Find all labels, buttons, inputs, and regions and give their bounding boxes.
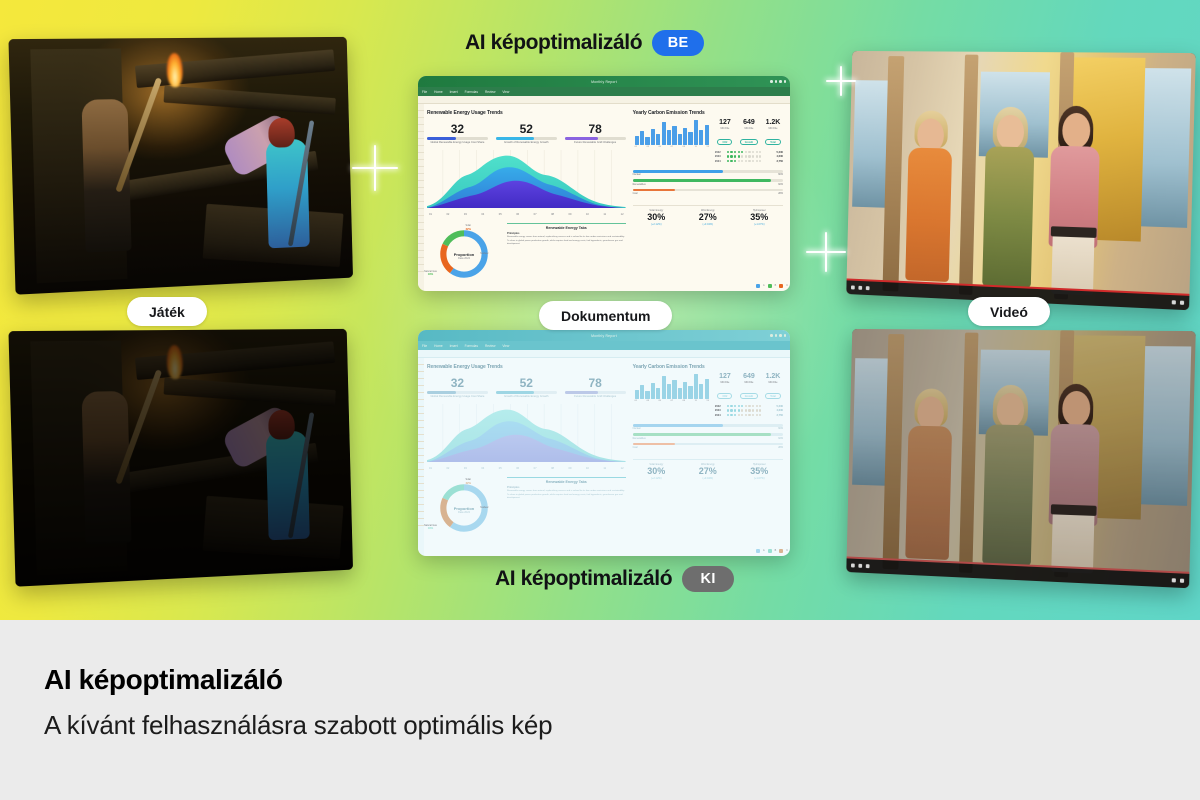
menu-item-review[interactable]: Review <box>485 90 495 94</box>
window-controls[interactable] <box>770 334 786 337</box>
game-artwork <box>8 37 353 295</box>
stat-card: 1.2K MtCO2e Total <box>763 373 783 402</box>
game-preview-ai-on <box>8 37 353 295</box>
percentage-value: 35% <box>736 212 783 222</box>
hero-banner: Monthly Report File Home Insert Formulas… <box>0 0 1200 620</box>
stat-card: 127 MtCO2e CO2 <box>715 119 735 148</box>
stat-number: 127 <box>715 119 735 126</box>
bar-chart <box>633 119 711 145</box>
xtick: 03 <box>464 213 467 216</box>
document-body: Renewable Energy Usage Trends 32 Global … <box>418 358 790 556</box>
document-right-column: Yearly Carbon Emission Trends 01 03 05 <box>633 110 783 287</box>
video-frame-dim <box>846 329 1196 588</box>
stat-chip: Growth <box>740 139 758 145</box>
year-row: 2023 4,630 <box>715 409 783 412</box>
stat-number: 649 <box>739 119 759 126</box>
progress-list: Nuclear60% Renewables92% Coal28% <box>633 170 783 198</box>
ai-label-on-text: AI képoptimalizáló <box>465 31 642 55</box>
footer-caption: AI képoptimalizáló A kívánt felhasználás… <box>0 620 1200 800</box>
bar-chart-xaxis: 01 03 05 07 09 11 13 <box>633 399 711 402</box>
document-ribbon[interactable] <box>418 350 790 358</box>
progress-row: Renewables92% <box>633 179 783 185</box>
donut-label-nuclear: Nuclear 60% <box>480 253 488 259</box>
document-preview-ai-off: Monthly Report File Home Insert Formulas… <box>418 330 790 556</box>
xtick: 01 <box>429 213 432 216</box>
xtick: 02 <box>446 213 449 216</box>
stat-card: 649 MtCO2e Growth <box>739 373 759 402</box>
progress-row: Coal28% <box>633 189 783 195</box>
stat-card: 127 MtCO2e CO2 <box>715 373 735 402</box>
percentage-card: Hydropower 35% (+1.07%) <box>736 209 783 225</box>
video-frame <box>846 51 1196 310</box>
percentage-card: Wind Energy 27% (+3.04%) <box>684 463 731 479</box>
stat-number: 1.2K <box>763 119 783 126</box>
video-preview-ai-on <box>846 51 1196 310</box>
percentage-row: Solar Energy 30% (+2.12%) Wind Energy 27… <box>633 459 783 479</box>
menu-item-insert[interactable]: Insert <box>450 344 458 348</box>
dim-overlay <box>846 329 1196 588</box>
video-preview-ai-off <box>846 329 1196 588</box>
year-row: 2024 3,750 <box>715 160 783 163</box>
year-rows: 2022 5,230 2023 4,630 2024 <box>715 151 783 163</box>
ai-label-off: AI képoptimalizáló KI <box>495 566 734 592</box>
menu-item-view[interactable]: View <box>502 344 509 348</box>
progress-row: Coal28% <box>633 443 783 449</box>
right-section-title: Yearly Carbon Emission Trends <box>633 110 783 116</box>
kpi-value: 52 <box>496 377 557 390</box>
row-gutter <box>418 104 424 291</box>
percentage-card: Wind Energy 27% (+3.04%) <box>684 209 731 225</box>
xtick: 10 <box>586 213 589 216</box>
category-pill-document: Dokumentum <box>539 301 672 330</box>
area-chart-xaxis: 01 02 03 04 05 06 07 08 09 10 11 12 <box>427 212 626 216</box>
percentage-value: 27% <box>684 212 731 222</box>
tabs-card: Renewable Energy Tabs Principles Renewab… <box>507 223 626 285</box>
year-row: 2022 5,230 <box>715 405 783 408</box>
left-section-title: Renewable Energy Usage Trends <box>427 364 626 370</box>
kpi-card: 52 Growth of Renewable Energy Growth <box>496 123 557 144</box>
fullscreen-icon[interactable] <box>1180 579 1184 583</box>
xtick: 07 <box>534 213 537 216</box>
ai-label-on: AI képoptimalizáló BE <box>465 30 704 56</box>
percentage-card: Hydropower 35% (+1.07%) <box>736 463 783 479</box>
tabs-card-title: Renewable Energy Tabs <box>507 480 626 484</box>
xtick: 09 <box>569 213 572 216</box>
menu-item-formulas[interactable]: Formulas <box>465 90 478 94</box>
menu-item-file[interactable]: File <box>422 90 427 94</box>
footer-title: AI képoptimalizáló <box>44 664 1156 696</box>
document-body: Renewable Energy Usage Trends 32 Global … <box>418 104 790 291</box>
bar-chart-xaxis: 01 03 05 07 09 11 13 <box>633 145 711 148</box>
donut-legend: A B C <box>756 284 788 288</box>
donut-label-solar: Solar 22% <box>465 225 471 231</box>
stat-label: MtCO2e <box>715 127 735 130</box>
menu-item-review[interactable]: Review <box>485 344 495 348</box>
percentage-delta: (+3.04%) <box>684 223 731 226</box>
stat-chip: Total <box>765 139 781 145</box>
kpi-card: 78 Future Renewable Grid Challenges <box>565 123 626 144</box>
kpi-value: 32 <box>427 123 488 136</box>
kpi-value: 78 <box>565 377 626 390</box>
kpi-value: 78 <box>565 123 626 136</box>
donut-legend: A B C <box>756 549 788 553</box>
dim-overlay <box>8 329 353 587</box>
kpi-card: 78 Future Renewable Grid Challenges <box>565 377 626 398</box>
kpi-caption: Global Renewable Energy Usage Cost Share <box>427 141 488 144</box>
right-section-title: Yearly Carbon Emission Trends <box>633 364 783 370</box>
year-rows: 2022 5,230 2023 4,630 2024 <box>715 405 783 417</box>
year-row: 2024 3,750 <box>715 414 783 417</box>
document-preview-ai-on: Monthly Report File Home Insert Formulas… <box>418 76 790 291</box>
stat-label: MtCO2e <box>763 127 783 130</box>
document-menubar[interactable]: File Home Insert Formulas Review View <box>418 87 790 96</box>
tabs-card-body: Renewable energy comes from natural, rep… <box>507 236 626 246</box>
area-chart <box>427 404 626 462</box>
menu-item-home[interactable]: Home <box>434 344 443 348</box>
document-titlebar: Monthly Report <box>418 330 790 341</box>
xtick: 12 <box>621 213 624 216</box>
volume-icon[interactable] <box>866 564 870 568</box>
donut-label-gas: Natural Gas 18% <box>424 525 437 531</box>
percentage-value: 30% <box>633 212 680 222</box>
next-icon[interactable] <box>858 286 862 290</box>
play-icon[interactable] <box>851 563 855 567</box>
menu-item-formulas[interactable]: Formulas <box>465 344 478 348</box>
year-row: 2023 4,630 <box>715 155 783 158</box>
xtick: 04 <box>481 213 484 216</box>
progress-list: Nuclear60% Renewables92% Coal28% <box>633 424 783 452</box>
progress-row: Nuclear60% <box>633 424 783 430</box>
donut-center-sub: Data 2024 <box>427 511 501 514</box>
bar-chart <box>633 373 711 399</box>
kpi-card: 32 Global Renewable Energy Usage Cost Sh… <box>427 377 488 398</box>
document-ribbon[interactable] <box>418 96 790 104</box>
xtick: 11 <box>603 213 606 216</box>
volume-icon[interactable] <box>866 286 870 290</box>
percentage-card: Solar Energy 30% (+2.12%) <box>633 463 680 479</box>
stat-row: 127 MtCO2e CO2 649 MtCO2e Growth 1.2K <box>715 373 783 402</box>
subtitles-icon[interactable] <box>1172 578 1176 582</box>
sparkle-icon <box>806 232 846 272</box>
category-pill-video: Videó <box>968 297 1050 326</box>
stat-chip: CO2 <box>717 139 732 145</box>
year-row: 2022 5,230 <box>715 151 783 154</box>
stat-card: 1.2K MtCO2e Total <box>763 119 783 148</box>
donut-label-solar: Solar 22% <box>465 479 471 485</box>
donut-label-nuclear: Nuclear 60% <box>480 507 488 513</box>
document-left-column: Renewable Energy Usage Trends 32 Global … <box>427 364 626 552</box>
kpi-caption: Growth of Renewable Energy Growth <box>496 395 557 398</box>
kpi-value: 32 <box>427 377 488 390</box>
document-window-title: Monthly Report <box>418 80 790 84</box>
document-titlebar: Monthly Report <box>418 76 790 87</box>
kpi-card: 52 Growth of Renewable Energy Growth <box>496 377 557 398</box>
play-icon[interactable] <box>851 285 855 289</box>
stat-label: MtCO2e <box>739 127 759 130</box>
document-menubar[interactable]: File Home Insert Formulas Review View <box>418 341 790 350</box>
document-window-title: Monthly Report <box>418 334 790 338</box>
percentage-card: Solar Energy 30% (+2.12%) <box>633 209 680 225</box>
xtick: 05 <box>499 213 502 216</box>
subtitles-icon[interactable] <box>1172 300 1176 304</box>
kpi-card: 32 Global Renewable Energy Usage Cost Sh… <box>427 123 488 144</box>
kpi-caption: Global Renewable Energy Usage Cost Share <box>427 395 488 398</box>
game-preview-ai-off <box>8 329 353 587</box>
percentage-row: Solar Energy 30% (+2.12%) Wind Energy 27… <box>633 205 783 225</box>
document-left-column: Renewable Energy Usage Trends 32 Global … <box>427 110 626 287</box>
kpi-caption: Growth of Renewable Energy Growth <box>496 141 557 144</box>
menu-item-view[interactable]: View <box>502 90 509 94</box>
kpi-value: 52 <box>496 123 557 136</box>
stat-row: 127 MtCO2e CO2 649 MtCO2e Growth 1.2K <box>715 119 783 148</box>
donut-chart: Proportion Data 2024 Solar 22% Nuclear 6… <box>427 223 501 285</box>
donut-center-sub: Data 2024 <box>427 257 501 260</box>
tabs-card-title: Renewable Energy Tabs <box>507 226 626 230</box>
ai-label-off-text: AI képoptimalizáló <box>495 567 672 591</box>
donut-chart: Proportion Data 2024 Solar 22% Nuclear 6… <box>427 477 501 539</box>
tabs-card: Renewable Energy Tabs Principles Renewab… <box>507 477 626 539</box>
menu-item-insert[interactable]: Insert <box>450 90 458 94</box>
document-right-column: Yearly Carbon Emission Trends 01 03 05 <box>633 364 783 552</box>
left-section-title: Renewable Energy Usage Trends <box>427 110 626 116</box>
tabs-card-body: Renewable energy comes from natural, rep… <box>507 490 626 500</box>
stat-card: 649 MtCO2e Growth <box>739 119 759 148</box>
percentage-delta: (+1.07%) <box>736 223 783 226</box>
progress-row: Renewables92% <box>633 433 783 439</box>
footer-subtitle: A kívánt felhasználásra szabott optimáli… <box>44 710 1156 741</box>
status-badge-on: BE <box>652 30 704 56</box>
kpi-row: 32 Global Renewable Energy Usage Cost Sh… <box>427 123 626 144</box>
menu-item-file[interactable]: File <box>422 344 427 348</box>
kpi-caption: Future Renewable Grid Challenges <box>565 395 626 398</box>
game-artwork-dim <box>8 329 353 587</box>
area-chart-xaxis: 01 02 03 04 05 06 07 08 09 10 11 12 <box>427 466 626 470</box>
category-pill-game: Játék <box>127 297 207 326</box>
next-icon[interactable] <box>858 564 862 568</box>
kpi-row: 32 Global Renewable Energy Usage Cost Sh… <box>427 377 626 398</box>
donut-label-gas: Natural Gas 18% <box>424 271 437 277</box>
window-controls[interactable] <box>770 80 786 83</box>
fullscreen-icon[interactable] <box>1180 301 1184 305</box>
sparkle-icon <box>352 145 398 191</box>
progress-row: Nuclear60% <box>633 170 783 176</box>
kpi-caption: Future Renewable Grid Challenges <box>565 141 626 144</box>
percentage-delta: (+2.12%) <box>633 223 680 226</box>
area-chart <box>427 150 626 208</box>
menu-item-home[interactable]: Home <box>434 90 443 94</box>
xtick: 06 <box>516 213 519 216</box>
lower-row: Proportion Data 2024 Solar 22% Nuclear 6… <box>427 223 626 285</box>
xtick: 08 <box>551 213 554 216</box>
status-badge-off: KI <box>682 566 734 592</box>
lower-row: Proportion Data 2024 Solar 22% Nuclear 6… <box>427 477 626 539</box>
